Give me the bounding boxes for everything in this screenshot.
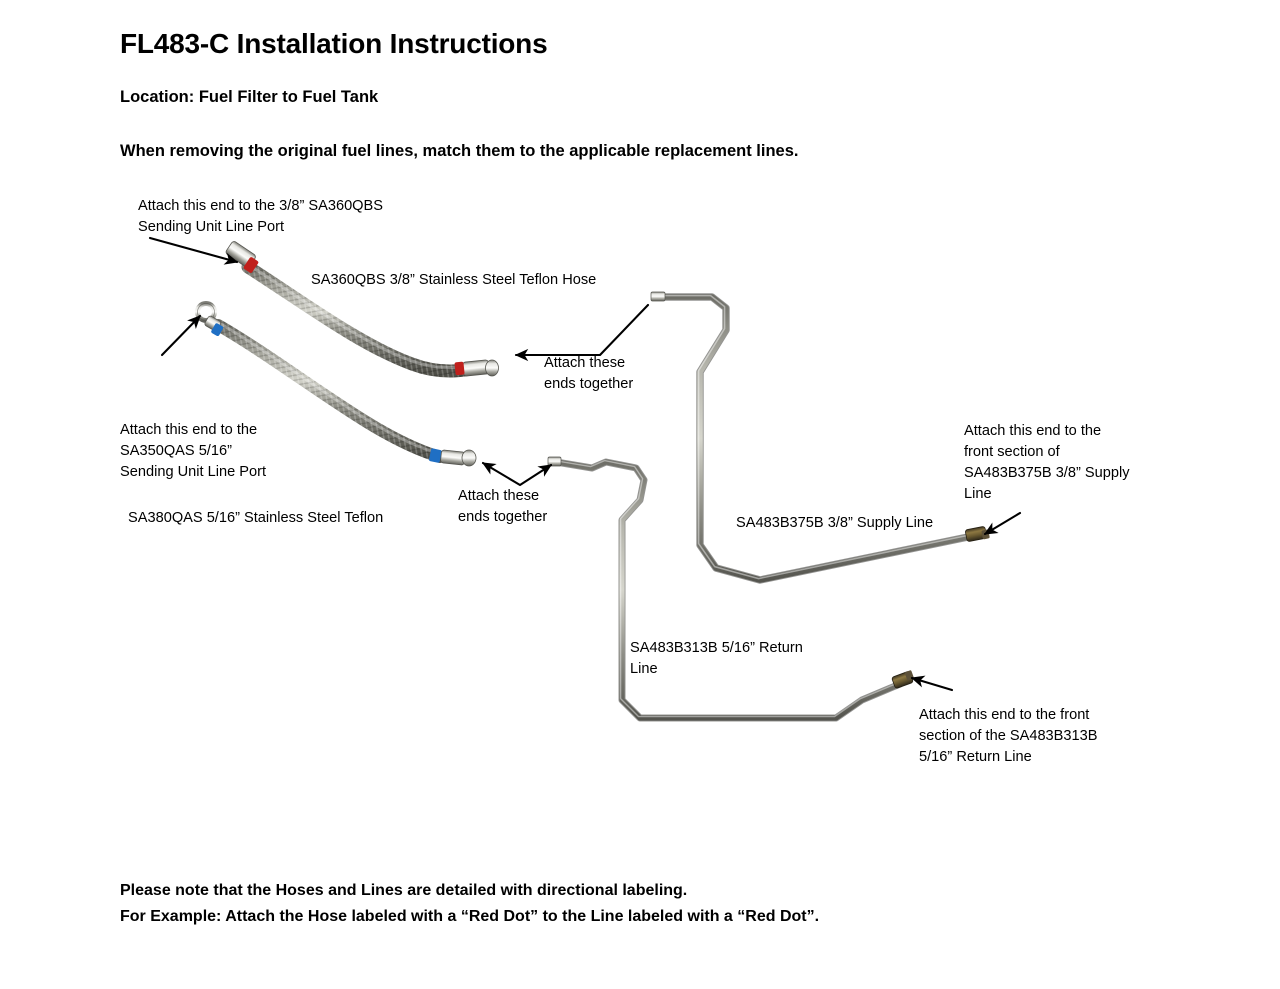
supply-line-flare-tip [651,292,665,301]
arrow-hose-516-end [162,316,200,355]
arrow-attach-upper [516,305,648,355]
arrow-hose-38-end [150,238,237,262]
label-attach-ends-upper: Attach these ends together [544,353,633,395]
label-supply-line-part: SA483B375B 3/8” Supply Line [736,513,933,534]
arrow-return-line-end [912,678,952,690]
supply-line-sa483b375b [651,292,990,580]
label-hose-516-part: SA380QAS 5/16” Stainless Steel Teflon [128,508,383,529]
arrow-attach-lower [483,463,551,485]
label-attach-ends-lower: Attach these ends together [458,486,547,528]
label-hose-38-end: Attach this end to the 3/8” SA360QBS Sen… [138,196,383,238]
footer-note: Please note that the Hoses and Lines are… [120,878,819,930]
label-hose-38-part: SA360QBS 3/8” Stainless Steel Teflon Hos… [311,270,596,291]
arrow-supply-line-end [985,513,1020,534]
instruction-sheet: FL483-C Installation Instructions Locati… [0,0,1280,989]
hose-sa360qbs-end-fitting-right [454,360,498,377]
label-supply-line-end: Attach this end to the front section of … [964,421,1130,505]
return-line-brass-fitting [891,670,914,689]
label-return-line-end: Attach this end to the front section of … [919,705,1098,768]
label-hose-516-end: Attach this end to the SA350QAS 5/16” Se… [120,420,266,483]
hose-sa380qas-end-fitting-right [429,448,476,466]
label-return-line-part: SA483B313B 5/16” Return Line [630,638,803,680]
